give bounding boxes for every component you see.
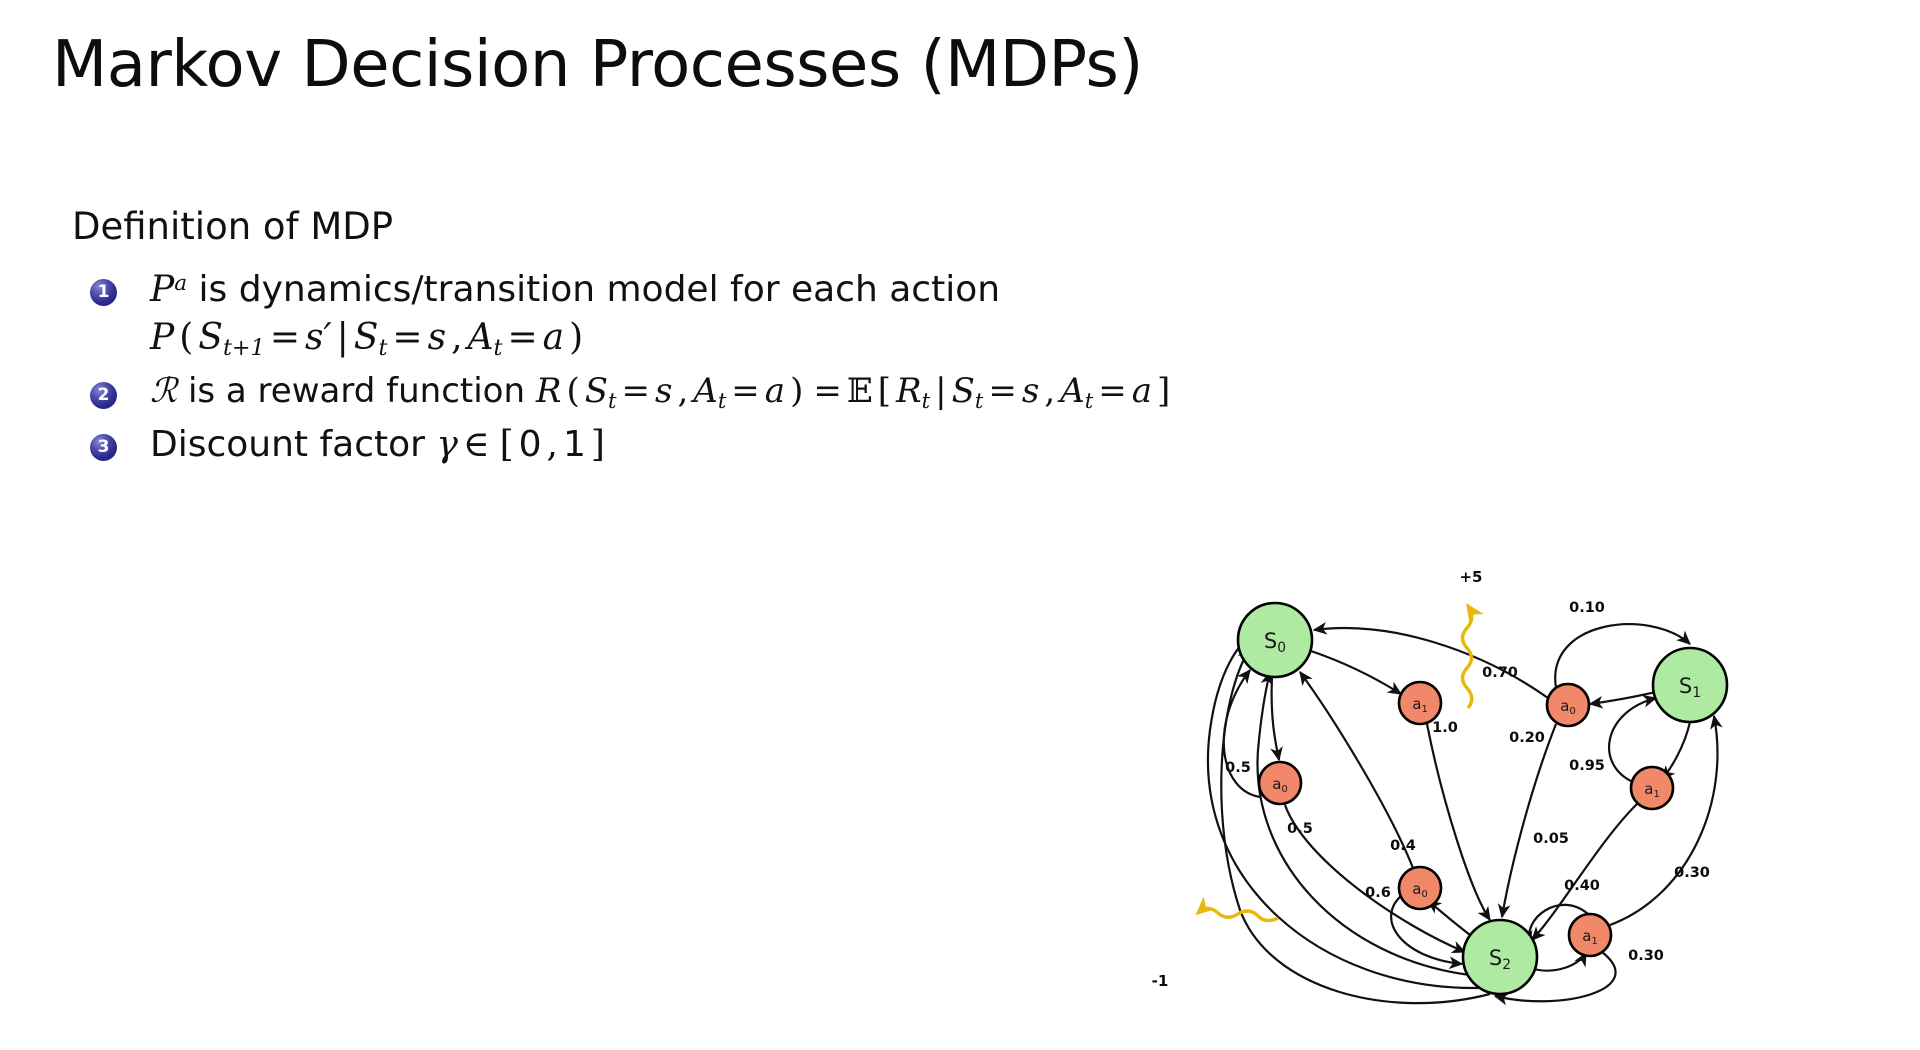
list-item: 2 ℛ is a reward function R(St=s,At=a)=𝔼[… <box>150 369 1192 415</box>
node-s1-action-a0[interactable]: a0 <box>1547 684 1589 726</box>
prob-label: 0.95 <box>1569 758 1605 774</box>
prob-label: 0.10 <box>1569 600 1605 616</box>
list-item-1-line-2: P(St+1=s′|St=s,At=a) <box>150 314 1192 364</box>
list-item: 3 Discount factor γ∈[0,1] <box>150 421 1192 469</box>
node-s0[interactable]: S0 <box>1238 603 1312 677</box>
reward-label-positive: +5 <box>1459 568 1482 586</box>
prob-label: 0.4 <box>1390 838 1416 854</box>
node-s2-action-a1[interactable]: a1 <box>1569 914 1611 956</box>
mdp-definition-list: 1 Pa is dynamics/transition model for ea… <box>72 266 1192 468</box>
node-s2[interactable]: S2 <box>1463 920 1537 994</box>
list-item-1-line-1: Pa is dynamics/transition model for each… <box>150 266 1192 314</box>
prob-label: 0.70 <box>1482 665 1518 681</box>
reward-squiggle-negative <box>1198 909 1278 921</box>
superscript-a: a <box>174 271 187 296</box>
edge-s0-to-a0 <box>1272 677 1279 760</box>
prob-label: 0.05 <box>1533 831 1569 847</box>
node-s0-action-a1[interactable]: a1 <box>1399 682 1441 724</box>
prob-label: 0.30 <box>1628 948 1664 964</box>
list-item-2-text: ℛ is a reward function R(St=s,At=a)=𝔼[Rt… <box>150 369 1192 415</box>
edge-outer-return-s0-a <box>1208 635 1478 988</box>
reward-squiggle-positive <box>1463 606 1472 708</box>
definition-block: Definition of MDP 1 Pa is dynamics/trans… <box>72 205 1192 474</box>
list-item: 1 Pa is dynamics/transition model for ea… <box>150 266 1192 363</box>
edge-outer-return-s0-c <box>1221 648 1490 1003</box>
definition-heading: Definition of MDP <box>72 205 1192 248</box>
edge-s2-to-a1 <box>1530 953 1586 971</box>
edge-s1-to-a1 <box>1662 722 1690 779</box>
mdp-state-transition-diagram: S0 S1 S2 a0 a1 a0 <box>1090 520 1920 1050</box>
edge-s0-to-a1 <box>1311 651 1401 694</box>
prob-label: 1.0 <box>1432 720 1458 736</box>
symbol-P: P <box>150 269 174 310</box>
symbol-script-R: ℛ <box>150 371 177 411</box>
edge-s2a1-to-s1-0-30 <box>1610 716 1717 925</box>
prob-label: 0.20 <box>1509 730 1545 746</box>
prob-label: 0.5 <box>1287 821 1313 837</box>
list-number-badge-1: 1 <box>90 279 117 306</box>
list-number-badge-3: 3 <box>90 434 117 461</box>
node-s1[interactable]: S1 <box>1653 648 1727 722</box>
prob-label: 0.30 <box>1674 865 1710 881</box>
node-s2-action-a0[interactable]: a0 <box>1399 867 1441 909</box>
reward-label-negative: -1 <box>1152 972 1169 990</box>
reward-labels: +5 -1 <box>1152 568 1483 990</box>
prob-label: 0.5 <box>1225 760 1251 776</box>
prob-label: 0.40 <box>1564 878 1600 894</box>
node-s0-action-a0[interactable]: a0 <box>1259 762 1301 804</box>
prob-label: 0.6 <box>1365 885 1391 901</box>
list-number-badge-2: 2 <box>90 382 117 409</box>
edge-s2-to-a0 <box>1428 901 1474 938</box>
list-item-3-text: Discount factor γ∈[0,1] <box>150 421 1192 469</box>
page-title: Markov Decision Processes (MDPs) <box>52 28 1143 102</box>
edge-s1a0-to-s2-0-20 <box>1502 724 1556 917</box>
list-item-1-text: is dynamics/transition model for each ac… <box>187 269 1000 310</box>
node-s1-action-a1[interactable]: a1 <box>1631 767 1673 809</box>
edge-a0-to-s0-0-5 <box>1224 670 1261 797</box>
